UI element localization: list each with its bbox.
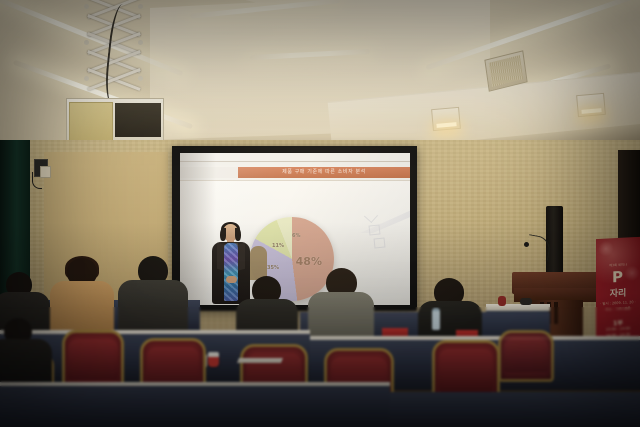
- pie-label-3: 11%: [272, 243, 284, 249]
- conference-table: [0, 386, 390, 427]
- banner-headline: P: [596, 267, 640, 287]
- red-program-booklet: [382, 328, 408, 336]
- banquet-chair: [498, 330, 554, 382]
- audience-body: [50, 281, 114, 333]
- conference-table: [390, 392, 640, 427]
- pie-label-1: 48%: [296, 255, 322, 268]
- audience-member: [118, 256, 188, 332]
- projector-lens: [69, 102, 113, 142]
- side-table-cloth: [486, 304, 550, 311]
- conference-room-photo: 제품 구매 기준에 따른 소비자 분석 48% 35% 11% 6%: [0, 0, 640, 427]
- slide-title-spacer: [180, 167, 238, 178]
- handout-paper: [237, 358, 283, 363]
- checkbox-icon: [369, 224, 381, 235]
- slide-title: 제품 구매 기준에 따른 소비자 분석: [238, 167, 410, 178]
- microphone-icon: [524, 242, 529, 247]
- audience-body: [118, 280, 188, 336]
- checkbox-icon: [374, 237, 386, 248]
- slide-top-rule: [180, 161, 410, 162]
- wall-sconce: [431, 107, 461, 131]
- audience-member: [308, 268, 374, 346]
- ceiling-projector: [66, 98, 164, 144]
- audience-member: [0, 318, 52, 388]
- pie-label-4: 6%: [292, 233, 301, 239]
- pie-label-2: 35%: [267, 265, 279, 271]
- wall-cable: [32, 172, 42, 189]
- side-table-item: [498, 296, 506, 306]
- wall-sconce: [576, 93, 606, 117]
- paper-coffee-cup: [208, 352, 219, 367]
- banner-korean-title: 자리: [596, 285, 640, 300]
- projector-body: [115, 103, 161, 137]
- lectern-groove: [554, 302, 558, 324]
- floor-speaker-column: [546, 206, 563, 278]
- audience-member: [50, 258, 114, 330]
- presenter-hair-side: [235, 228, 241, 241]
- side-table-item: [520, 298, 532, 305]
- check-icon: [364, 209, 378, 223]
- slide-title-bar: 제품 구매 기준에 따른 소비자 분석: [238, 167, 410, 178]
- water-bottle: [432, 308, 440, 330]
- presenter-hair-side: [220, 228, 226, 241]
- banner-detail-line: · 장소 : 그랜드볼룸 ·: [596, 305, 640, 312]
